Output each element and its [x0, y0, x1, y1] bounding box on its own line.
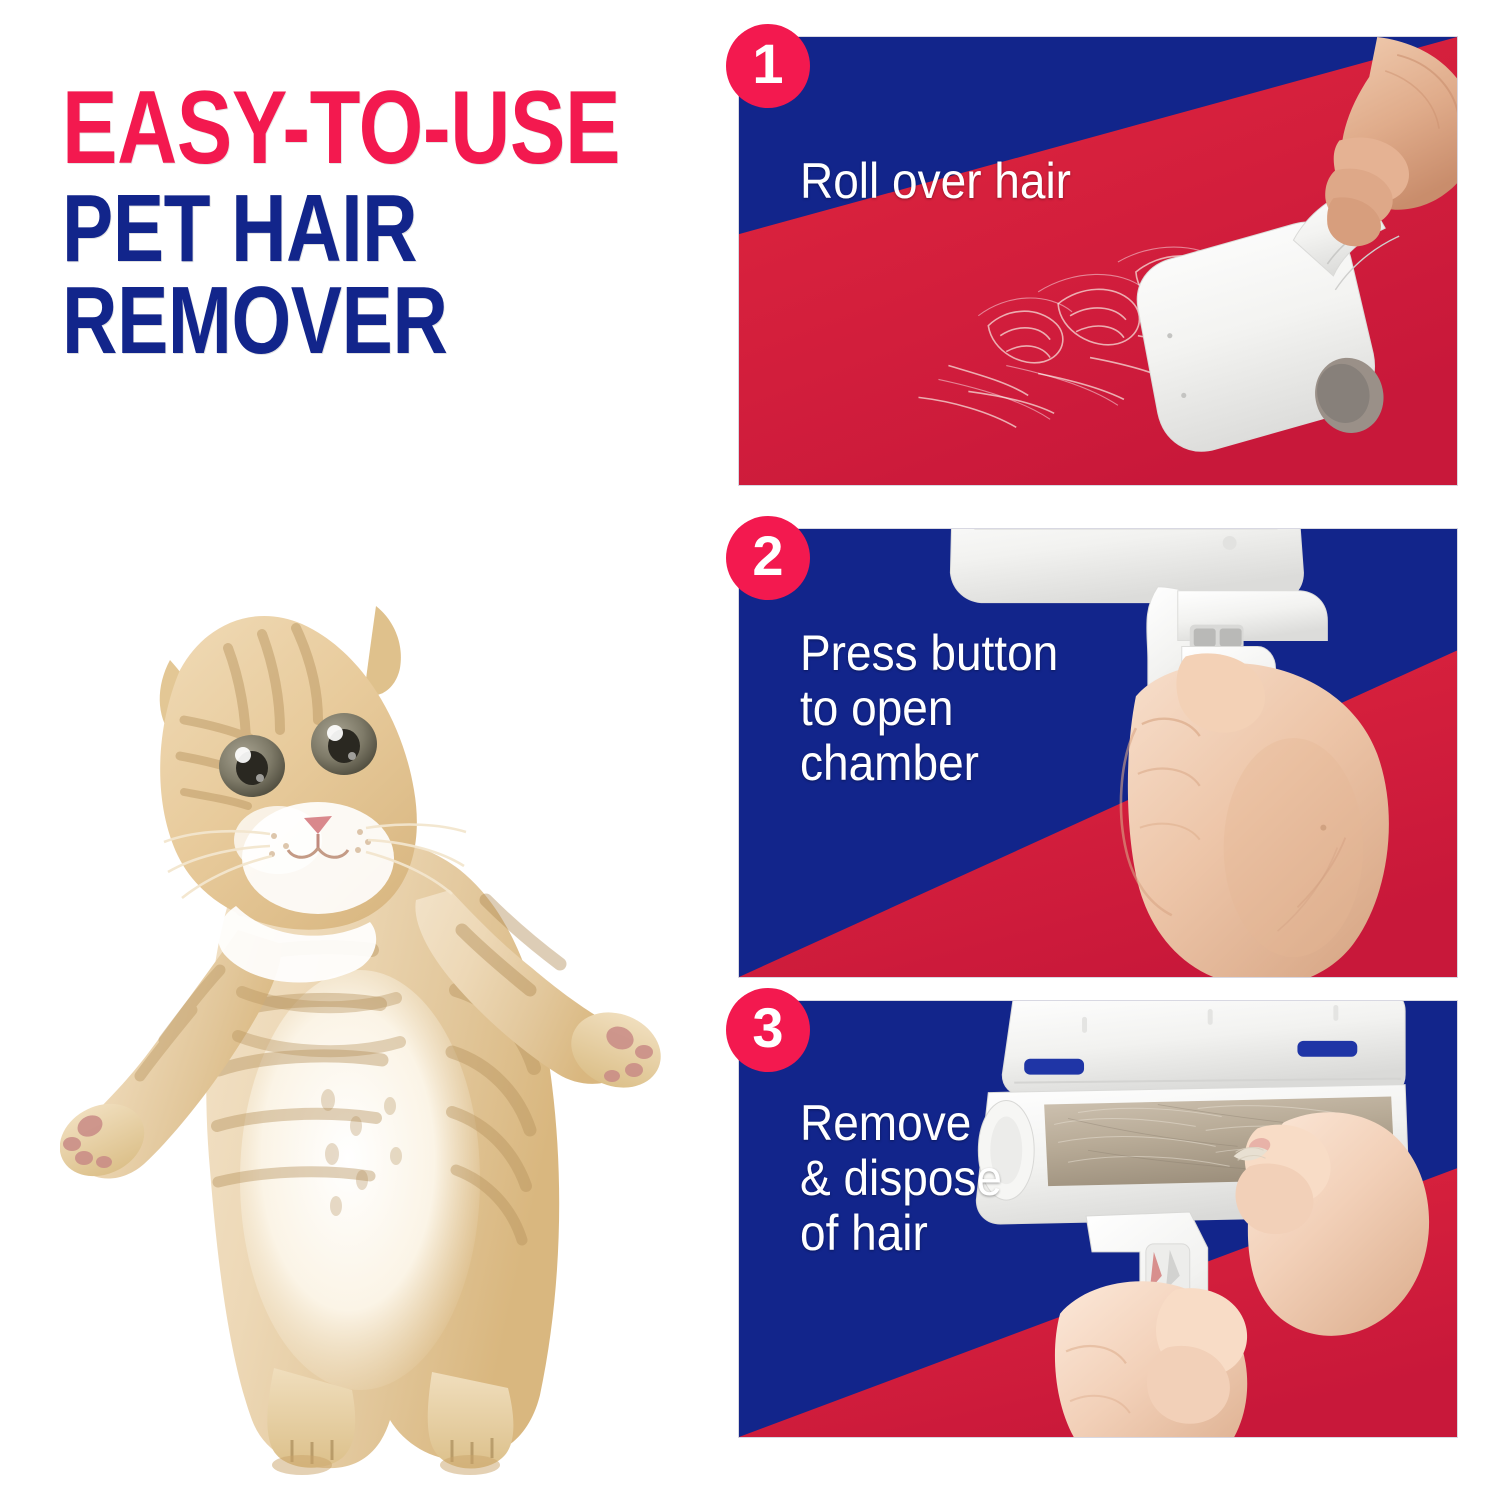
step-panel-3: 3 Remove & dispose of hair [738, 1000, 1458, 1438]
step-2-label-line-1: Press button [800, 626, 1058, 681]
hero-cat-image [60, 540, 680, 1480]
step-2-number-badge: 2 [726, 516, 810, 600]
step-2-label-line-2: to open [800, 681, 1058, 736]
step-3-label-line-1: Remove [800, 1096, 1002, 1151]
step-1-scene [739, 37, 1457, 485]
step-1-label: Roll over hair [800, 154, 1071, 209]
headline-line-2: PET HAIR [62, 184, 574, 274]
step-2-label: Press button to open chamber [800, 626, 1058, 791]
step-2-label-line-3: chamber [800, 736, 1058, 791]
hinge-tab-right [1297, 1041, 1357, 1057]
hand-holding-handle [1055, 1281, 1247, 1437]
page-title: EASY-TO-USE PET HAIR REMOVER [62, 80, 702, 366]
cat-illustration-svg [60, 540, 680, 1480]
step-1-number: 1 [752, 36, 783, 92]
step-2-number: 2 [752, 528, 783, 584]
step-3-label: Remove & dispose of hair [800, 1096, 1002, 1261]
step-3-label-line-3: of hair [800, 1206, 1002, 1261]
headline-line-3: REMOVER [62, 276, 574, 366]
headline-line-1: EASY-TO-USE [62, 80, 574, 178]
step-1-number-badge: 1 [726, 24, 810, 108]
hinge-tab-left [1024, 1059, 1084, 1075]
step-panel-2: 2 Press button to open chamber [738, 528, 1458, 978]
step-3-number: 3 [752, 1000, 783, 1056]
step-3-label-line-2: & dispose [800, 1151, 1002, 1206]
left-column: EASY-TO-USE PET HAIR REMOVER [0, 0, 716, 1500]
step-panel-1: 1 Roll over hair [738, 36, 1458, 486]
step-3-number-badge: 3 [726, 988, 810, 1072]
chamber-lid-open [1002, 1001, 1405, 1095]
step-1-artwork [738, 36, 1458, 486]
